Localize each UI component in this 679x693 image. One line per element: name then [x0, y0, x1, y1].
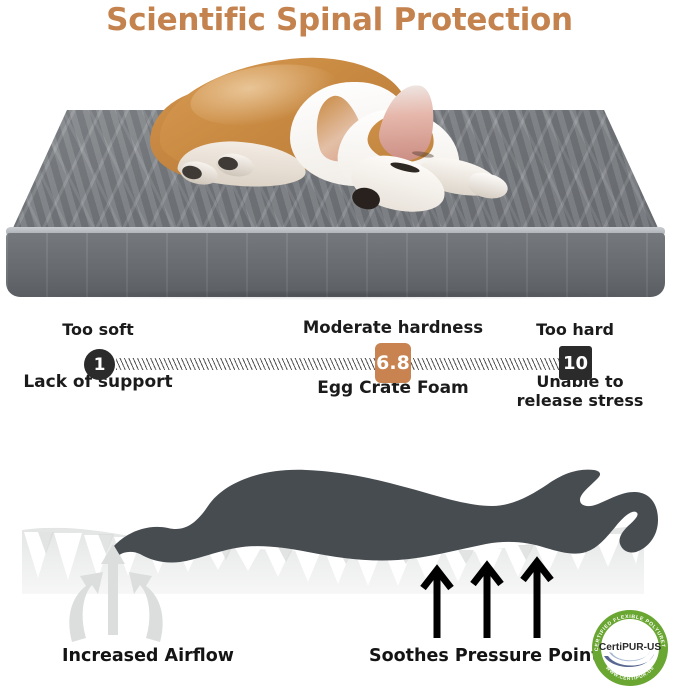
- label-increased-airflow: Increased Airflow: [62, 646, 234, 666]
- corgi-dog-image: [150, 54, 530, 239]
- scale-marker-1: 1: [84, 349, 115, 380]
- hero-product-photo: [0, 44, 679, 300]
- certipur-us-badge: CONTAINS CERTIFIED FLEXIBLE POLYURETHANE…: [588, 608, 672, 688]
- scale-label-too-soft: Too soft: [28, 320, 168, 339]
- scale-label-too-hard: Too hard: [505, 320, 645, 339]
- scale-marker-6-8: 6.8: [375, 343, 411, 383]
- foam-cross-section-diagram: Increased Airflow Soothes Pressure Point…: [0, 420, 679, 691]
- dog-bed-shadow: [22, 290, 652, 300]
- page-title: Scientific Spinal Protection: [0, 2, 679, 38]
- label-soothes-pressure-points: Soothes Pressure Points: [369, 646, 610, 666]
- certipur-badge-svg: CONTAINS CERTIFIED FLEXIBLE POLYURETHANE…: [588, 608, 672, 688]
- scale-dashed-line: [116, 358, 560, 370]
- firmness-scale: Too soft Lack of support Moderate hardne…: [0, 302, 679, 414]
- badge-center-text: CertiPUR-US: [599, 642, 661, 653]
- scale-label-moderate-hardness: Moderate hardness: [293, 318, 493, 337]
- scale-marker-10: 10: [559, 346, 592, 380]
- dog-bed-side-panel: [6, 233, 665, 297]
- dog-paw-front: [466, 170, 510, 202]
